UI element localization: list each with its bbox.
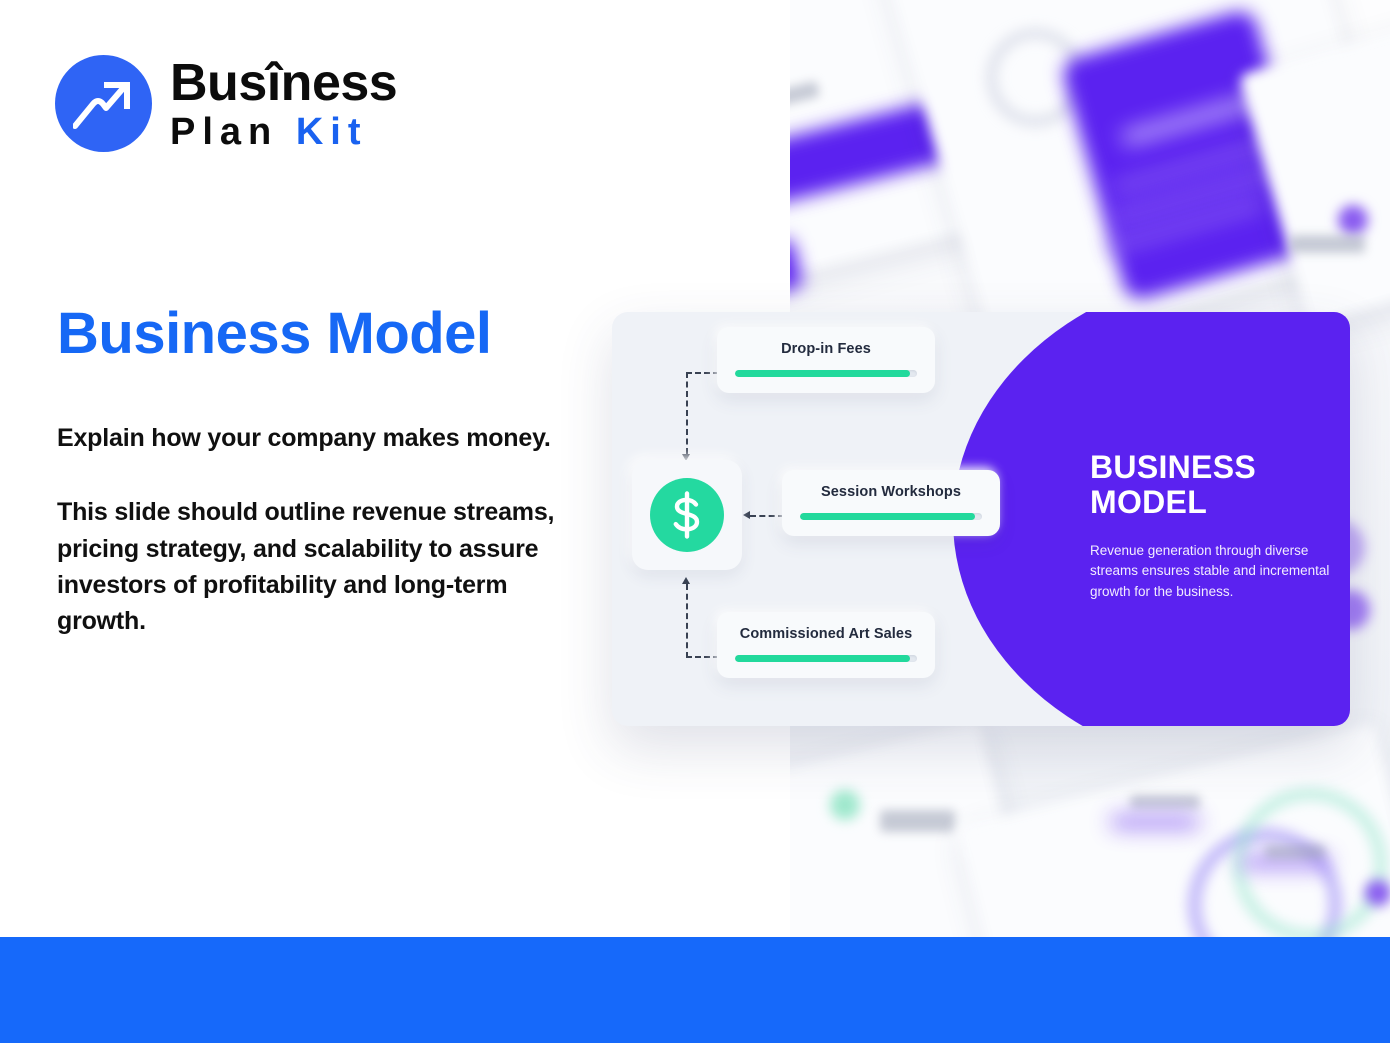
- connector-arrow-middle: [743, 511, 750, 519]
- revenue-stream-progress-fill: [735, 655, 910, 662]
- brand-name-line2: Plan Kit: [170, 113, 397, 151]
- revenue-stream-progress-track: [800, 513, 982, 520]
- revenue-streams-diagram: Drop-in Fees Session Workshops Commissio…: [612, 312, 1350, 726]
- revenue-stream-label: Commissioned Art Sales: [735, 626, 917, 642]
- footer-bar: [0, 937, 1390, 1043]
- brand-name-plan: Plan: [170, 111, 278, 153]
- revenue-hub-node[interactable]: [632, 460, 742, 570]
- dollar-sign-icon: [650, 478, 724, 552]
- revenue-stream-label: Drop-in Fees: [735, 341, 917, 357]
- revenue-stream-card[interactable]: Commissioned Art Sales: [717, 612, 935, 678]
- growth-arrow-icon: [55, 55, 152, 152]
- revenue-stream-progress-track: [735, 370, 917, 377]
- brand-name-line1: Busîness: [170, 57, 397, 109]
- connector-line-bottom-horizontal: [686, 656, 719, 658]
- connector-line-top-vertical: [686, 372, 688, 454]
- revenue-stream-card[interactable]: Session Workshops: [782, 470, 1000, 536]
- connector-arrow-bottom: [682, 577, 690, 584]
- connector-line-middle-horizontal: [750, 515, 784, 517]
- slide-preview-card[interactable]: BUSINESS MODEL Revenue generation throug…: [612, 312, 1350, 726]
- page-title: Business Model: [57, 300, 492, 367]
- slide-page: Busîness Plan Kit Business Model Explain…: [0, 0, 1390, 1043]
- revenue-stream-label: Session Workshops: [800, 484, 982, 500]
- revenue-stream-progress-track: [735, 655, 917, 662]
- page-description: Explain how your company makes money. Th…: [57, 420, 577, 639]
- connector-line-bottom-vertical: [686, 584, 688, 658]
- description-paragraph-2: This slide should outline revenue stream…: [57, 494, 577, 639]
- description-paragraph-1: Explain how your company makes money.: [57, 420, 577, 456]
- brand-name-kit: Kit: [296, 111, 368, 153]
- revenue-stream-progress-fill: [800, 513, 975, 520]
- revenue-stream-card[interactable]: Drop-in Fees: [717, 327, 935, 393]
- connector-line-top-horizontal: [686, 372, 719, 374]
- revenue-stream-progress-fill: [735, 370, 910, 377]
- brand-logo: Busîness Plan Kit: [55, 55, 397, 152]
